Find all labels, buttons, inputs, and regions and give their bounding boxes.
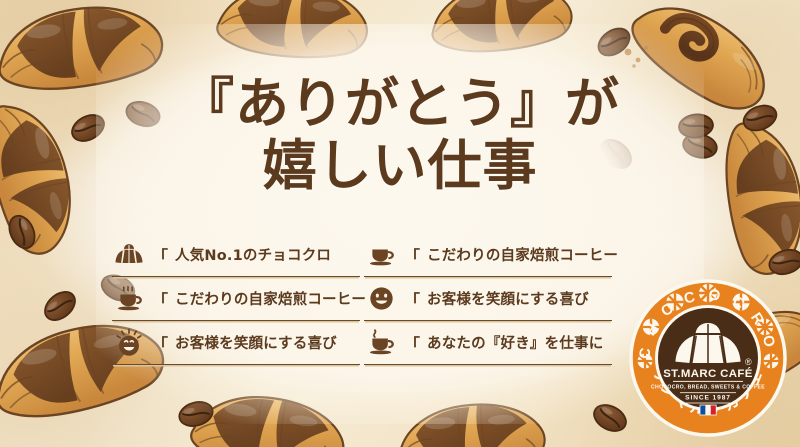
feature-label: 人気No.1のチョコクロ	[175, 244, 331, 265]
logo-tagline: CHOCOCRO, BREAD, SWEETS & COFFEE	[651, 384, 765, 390]
logo-brand-name: ST.MARC CAFÉ	[663, 367, 753, 380]
croissant-fan-icon	[112, 240, 146, 270]
feature-quote-mark: 「	[152, 287, 168, 311]
feature-item-smile-right: 「 お客様を笑顔にする喜び	[364, 277, 612, 321]
feature-item-chococro: 「 人気No.1のチョコクロ	[112, 233, 360, 277]
feature-label: あなたの『好き』を仕事に	[427, 332, 603, 353]
feature-quote-mark: 「	[404, 243, 420, 267]
coffee-cup-wisp-icon	[364, 328, 398, 358]
feature-label: こだわりの自家焙煎コーヒー	[427, 244, 618, 265]
smiley-face-icon	[364, 284, 398, 314]
feature-item-coffee-right: 「 こだわりの自家焙煎コーヒー	[364, 233, 612, 277]
french-flag-icon	[700, 405, 716, 415]
coffee-cup-steam-icon	[112, 284, 146, 314]
feature-quote-mark: 「	[404, 287, 420, 311]
recruit-banner: 『ありがとう』が 嬉しい仕事 「 人気No.	[0, 0, 800, 447]
logo-since: SINCE 1987	[685, 395, 731, 402]
smiley-sun-icon	[112, 328, 146, 358]
st-marc-cafe-logo: CHOCOCRO サンマルクカフェ ® ST.MARC CAFÉ	[627, 277, 789, 439]
feature-item-your-passion: 「 あなたの『好き』を仕事に	[364, 321, 612, 365]
page-title: 『ありがとう』が 嬉しい仕事	[0, 74, 800, 198]
feature-label: お客様を笑顔にする喜び	[175, 332, 337, 353]
feature-quote-mark: 「	[404, 331, 420, 355]
registered-mark: ®	[745, 357, 752, 367]
headline-line-1: 『ありがとう』が	[0, 74, 800, 134]
feature-label: こだわりの自家焙煎コーヒー	[175, 288, 366, 309]
feature-label: お客様を笑顔にする喜び	[427, 288, 589, 309]
feature-quote-mark: 「	[152, 243, 168, 267]
headline-line-2: 嬉しい仕事	[0, 134, 800, 198]
coffee-cup-icon	[364, 240, 398, 270]
feature-list: 「 人気No.1のチョコクロ 「 こだわりの自家焙煎コーヒー	[112, 233, 612, 365]
feature-item-smile-left: 「 お客様を笑顔にする喜び	[112, 321, 360, 365]
feature-quote-mark: 「	[152, 331, 168, 355]
feature-item-coffee-left: 「 こだわりの自家焙煎コーヒー	[112, 277, 360, 321]
